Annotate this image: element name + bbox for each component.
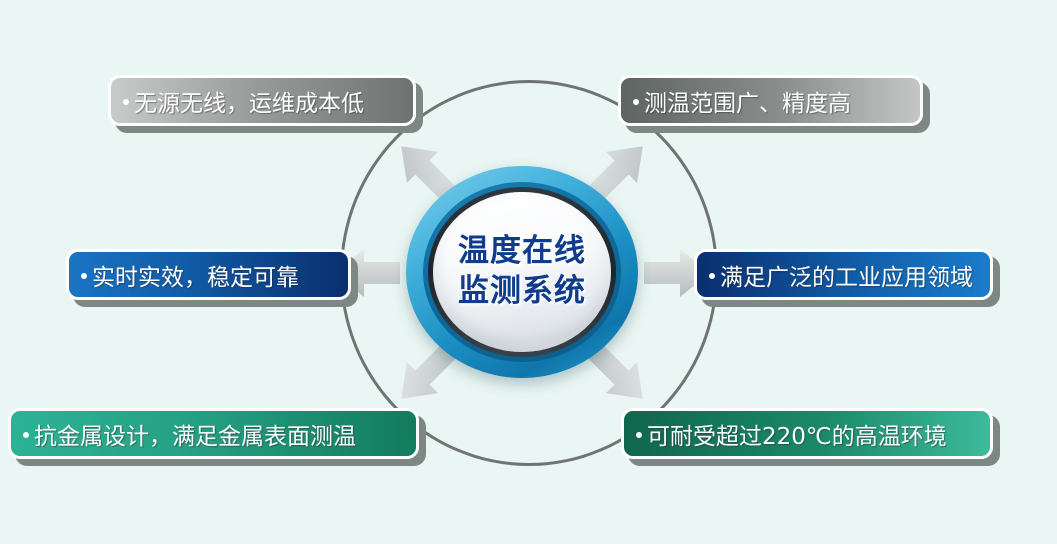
callout-label: 实时实效，稳定可靠 bbox=[92, 258, 299, 292]
bullet-icon bbox=[636, 432, 642, 438]
callout-middle-right[interactable]: 满足广泛的工业应用领域 bbox=[694, 249, 993, 300]
callout-bottom-right[interactable]: 可耐受超过220℃的高温环境 bbox=[621, 408, 993, 459]
central-hub[interactable]: 温度在线 监测系统 bbox=[406, 166, 638, 378]
callout-label: 满足广泛的工业应用领域 bbox=[720, 258, 973, 292]
bullet-icon bbox=[709, 273, 715, 279]
callout-label: 抗金属设计，满足金属表面测温 bbox=[34, 417, 356, 451]
callout-top-right[interactable]: 测温范围广、精度高 bbox=[618, 75, 923, 126]
callout-top-left[interactable]: 无源无线，运维成本低 bbox=[108, 75, 416, 126]
bullet-icon bbox=[23, 432, 29, 438]
callout-bottom-left[interactable]: 抗金属设计，满足金属表面测温 bbox=[8, 408, 419, 459]
bullet-icon bbox=[633, 99, 639, 105]
callout-middle-left[interactable]: 实时实效，稳定可靠 bbox=[66, 249, 351, 300]
callout-label: 测温范围广、精度高 bbox=[644, 84, 851, 118]
callout-label: 无源无线，运维成本低 bbox=[134, 84, 364, 118]
diagram-canvas: 温度在线 监测系统 无源无线，运维成本低 测温范围广、精度高 实时实效，稳定可靠… bbox=[0, 0, 1057, 544]
bullet-icon bbox=[81, 273, 87, 279]
hub-face: 温度在线 监测系统 bbox=[433, 192, 611, 352]
hub-title-line1: 温度在线 bbox=[458, 232, 586, 272]
callout-label: 可耐受超过220℃的高温环境 bbox=[647, 417, 947, 451]
hub-title-line2: 监测系统 bbox=[458, 272, 586, 312]
bullet-icon bbox=[123, 99, 129, 105]
